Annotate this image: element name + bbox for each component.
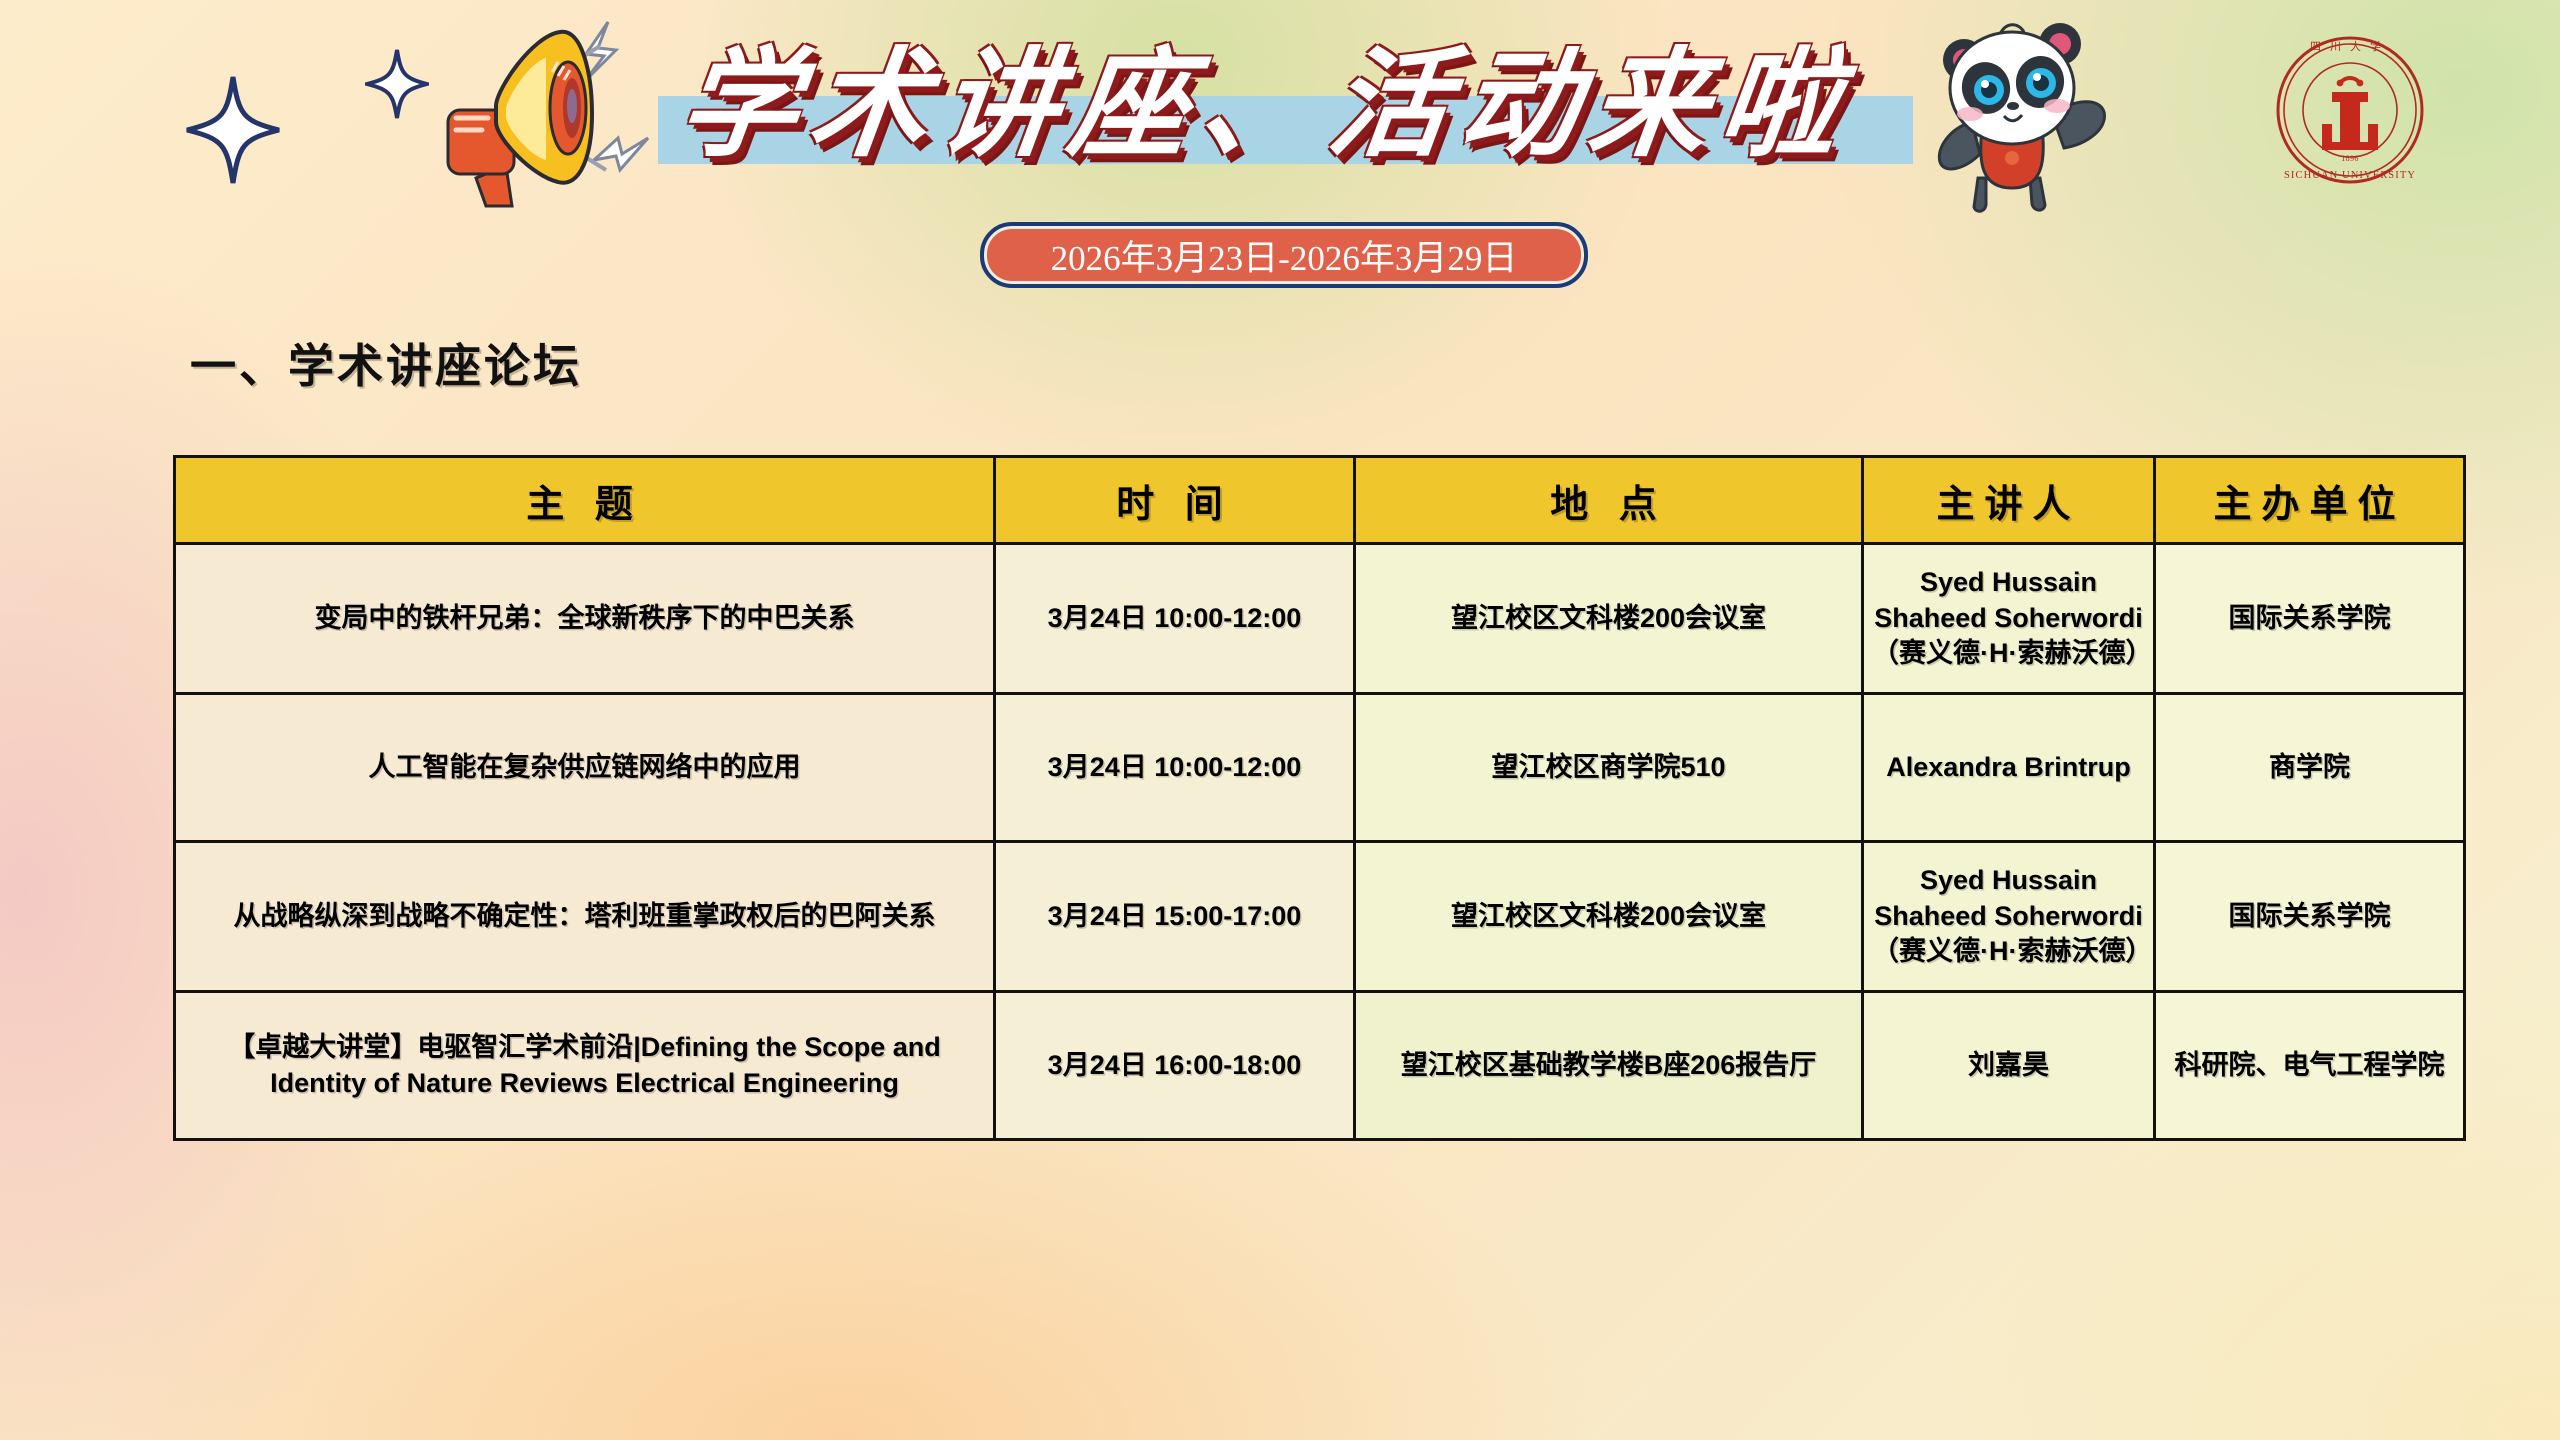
cell-time: 3月24日 10:00-12:00	[995, 694, 1355, 842]
sichuan-university-logo: 1896 四川大学 SICHUAN UNIVERSITY	[2270, 30, 2430, 190]
date-range-text: 2026年3月23日-2026年3月29日	[1051, 230, 1518, 281]
cell-speaker: 刘嘉昊	[1863, 992, 2155, 1140]
logo-name-en: SICHUAN UNIVERSITY	[2284, 170, 2416, 181]
logo-name-cn: 四川大学	[2310, 39, 2390, 53]
poster-canvas: 学术讲座、活动来啦	[0, 0, 2560, 1440]
cell-place: 望江校区文科楼200会议室	[1355, 842, 1863, 992]
sparkle-icon-large	[185, 75, 281, 185]
date-range-badge: 2026年3月23日-2026年3月29日	[980, 222, 1588, 288]
table-header-row: 主 题 时 间 地 点 主讲人 主办单位	[175, 457, 2465, 544]
cell-time: 3月24日 15:00-17:00	[995, 842, 1355, 992]
cell-time: 3月24日 16:00-18:00	[995, 992, 1355, 1140]
megaphone-icon	[300, 10, 700, 210]
section-heading: 一、学术讲座论坛	[190, 330, 582, 396]
cell-place: 望江校区基础教学楼B座206报告厅	[1355, 992, 1863, 1140]
cell-organizer: 科研院、电气工程学院	[2155, 992, 2465, 1140]
cell-speaker: Syed Hussain Shaheed Soherwordi（赛义德·H·索赫…	[1863, 842, 2155, 992]
table-row: 从战略纵深到战略不确定性：塔利班重掌政权后的巴阿关系 3月24日 15:00-1…	[175, 842, 2465, 992]
cell-place: 望江校区商学院510	[1355, 694, 1863, 842]
page-title: 学术讲座、活动来啦	[671, 36, 1918, 176]
table-row: 人工智能在复杂供应链网络中的应用 3月24日 10:00-12:00 望江校区商…	[175, 694, 2465, 842]
cell-topic: 从战略纵深到战略不确定性：塔利班重掌政权后的巴阿关系	[175, 842, 995, 992]
cell-organizer: 商学院	[2155, 694, 2465, 842]
panda-mascot-icon	[1900, 2, 2130, 217]
cell-topic: 【卓越大讲堂】电驱智汇学术前沿|Defining the Scope and I…	[175, 992, 995, 1140]
cell-speaker: Alexandra Brintrup	[1863, 694, 2155, 842]
schedule-table: 主 题 时 间 地 点 主讲人 主办单位 变局中的铁杆兄弟：全球新秩序下的中巴关…	[173, 455, 2466, 1141]
cell-topic: 人工智能在复杂供应链网络中的应用	[175, 694, 995, 842]
cell-time: 3月24日 10:00-12:00	[995, 544, 1355, 694]
table-row: 【卓越大讲堂】电驱智汇学术前沿|Defining the Scope and I…	[175, 992, 2465, 1140]
column-header-time: 时 间	[995, 457, 1355, 544]
column-header-speaker: 主讲人	[1863, 457, 2155, 544]
cell-organizer: 国际关系学院	[2155, 544, 2465, 694]
cell-organizer: 国际关系学院	[2155, 842, 2465, 992]
column-header-topic: 主 题	[175, 457, 995, 544]
column-header-place: 地 点	[1355, 457, 1863, 544]
cell-speaker: Syed Hussain Shaheed Soherwordi（赛义德·H·索赫…	[1863, 544, 2155, 694]
table-row: 变局中的铁杆兄弟：全球新秩序下的中巴关系 3月24日 10:00-12:00 望…	[175, 544, 2465, 694]
logo-year: 1896	[2341, 154, 2359, 163]
cell-topic: 变局中的铁杆兄弟：全球新秩序下的中巴关系	[175, 544, 995, 694]
schedule-table-container: 主 题 时 间 地 点 主讲人 主办单位 变局中的铁杆兄弟：全球新秩序下的中巴关…	[173, 455, 2417, 1141]
column-header-organizer: 主办单位	[2155, 457, 2465, 544]
cell-place: 望江校区文科楼200会议室	[1355, 544, 1863, 694]
